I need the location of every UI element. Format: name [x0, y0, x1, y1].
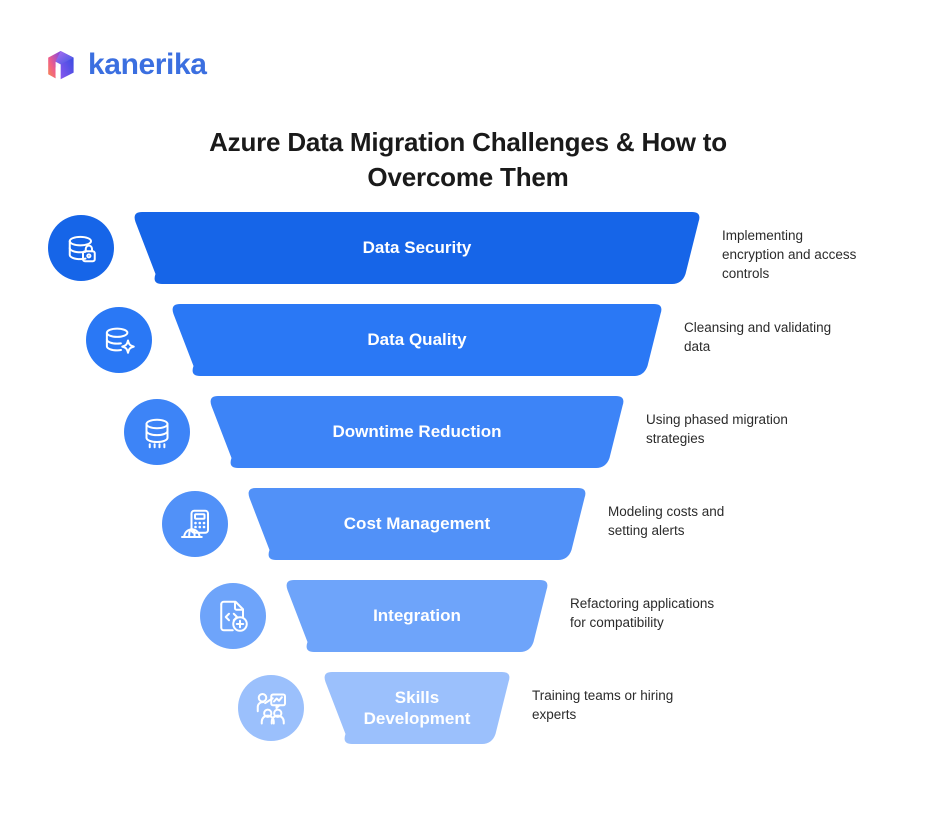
database-downtime-icon: [124, 399, 190, 465]
funnel-stage-band[interactable]: Data Quality: [170, 304, 664, 376]
training-presentation-icon: [238, 675, 304, 741]
page-title-line-2: Overcome Them: [0, 160, 936, 194]
funnel-stage-row: Skills DevelopmentTraining teams or hiri…: [0, 672, 936, 758]
funnel-stage-row: Downtime ReductionUsing phased migration…: [0, 396, 936, 482]
funnel-stage-label: Skills Development: [322, 672, 512, 744]
calculator-helmet-icon: [162, 491, 228, 557]
brand-name: kanerika: [88, 50, 207, 80]
database-lock-icon: [48, 215, 114, 281]
funnel-stage-note: Refactoring applications for compatibili…: [570, 594, 770, 632]
funnel-stage-note: Cleansing and validating data: [684, 318, 884, 356]
funnel-stage-band[interactable]: Downtime Reduction: [208, 396, 626, 468]
funnel-chart: Data SecurityImplementing encryption and…: [0, 212, 936, 792]
funnel-stage-row: Data QualityCleansing and validating dat…: [0, 304, 936, 390]
brand-logo: kanerika: [44, 48, 207, 82]
funnel-stage-band[interactable]: Cost Management: [246, 488, 588, 560]
funnel-stage-label: Downtime Reduction: [208, 396, 626, 468]
cube-logo-icon: [44, 48, 78, 82]
funnel-stage-note: Training teams or hiring experts: [532, 686, 732, 724]
page-title: Azure Data Migration Challenges & How to…: [0, 125, 936, 194]
funnel-stage-label: Data Quality: [170, 304, 664, 376]
funnel-stage-band[interactable]: Data Security: [132, 212, 702, 284]
funnel-stage-note: Implementing encryption and access contr…: [722, 226, 922, 283]
database-sparkle-icon: [86, 307, 152, 373]
code-file-plus-icon: [200, 583, 266, 649]
funnel-stage-label: Data Security: [132, 212, 702, 284]
funnel-stage-label: Integration: [284, 580, 550, 652]
funnel-stage-label: Cost Management: [246, 488, 588, 560]
funnel-stage-note: Modeling costs and setting alerts: [608, 502, 808, 540]
funnel-stage-note: Using phased migration strategies: [646, 410, 846, 448]
page-title-line-1: Azure Data Migration Challenges & How to: [0, 125, 936, 159]
funnel-stage-band[interactable]: Skills Development: [322, 672, 512, 744]
funnel-stage-row: Data SecurityImplementing encryption and…: [0, 212, 936, 298]
funnel-stage-row: Cost ManagementModeling costs and settin…: [0, 488, 936, 574]
funnel-stage-row: IntegrationRefactoring applications for …: [0, 580, 936, 666]
funnel-stage-band[interactable]: Integration: [284, 580, 550, 652]
